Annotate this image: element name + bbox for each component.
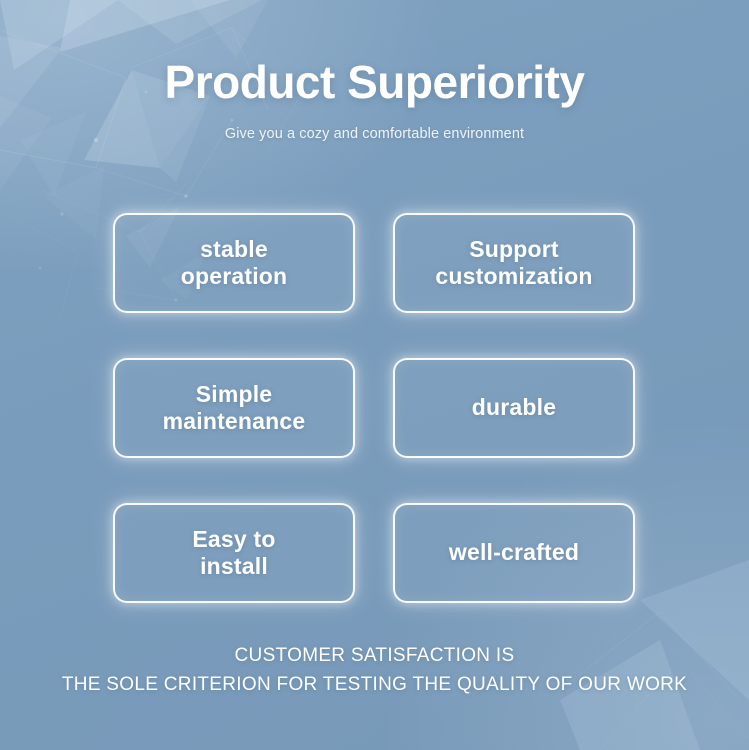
feature-card-well-crafted[interactable]: well-crafted	[393, 503, 635, 603]
footer-slogan-line-2: THE SOLE CRITERION FOR TESTING THE QUALI…	[0, 671, 749, 700]
page-subtitle: Give you a cozy and comfortable environm…	[0, 126, 749, 142]
feature-card-label: Easy to install	[184, 526, 283, 580]
feature-card-easy-to-install[interactable]: Easy to install	[113, 503, 355, 603]
feature-card-stable-operation[interactable]: stable operation	[113, 213, 355, 313]
feature-card-label: Support customization	[427, 236, 600, 290]
footer-slogan-line-1: CUSTOMER SATISFACTION IS	[0, 642, 749, 671]
page-title: Product Superiority	[0, 58, 749, 106]
footer-slogan: CUSTOMER SATISFACTION IS THE SOLE CRITER…	[0, 642, 749, 700]
feature-card-support-customization[interactable]: Support customization	[393, 213, 635, 313]
product-superiority-poster: Product Superiority Give you a cozy and …	[0, 0, 749, 750]
feature-card-durable[interactable]: durable	[393, 358, 635, 458]
feature-card-label: Simple maintenance	[155, 381, 314, 435]
feature-card-label: stable operation	[173, 236, 296, 290]
feature-card-simple-maintenance[interactable]: Simple maintenance	[113, 358, 355, 458]
feature-grid: stable operation Support customization S…	[113, 213, 636, 603]
feature-card-label: durable	[464, 394, 564, 421]
header: Product Superiority Give you a cozy and …	[0, 58, 749, 142]
feature-card-label: well-crafted	[441, 539, 587, 566]
